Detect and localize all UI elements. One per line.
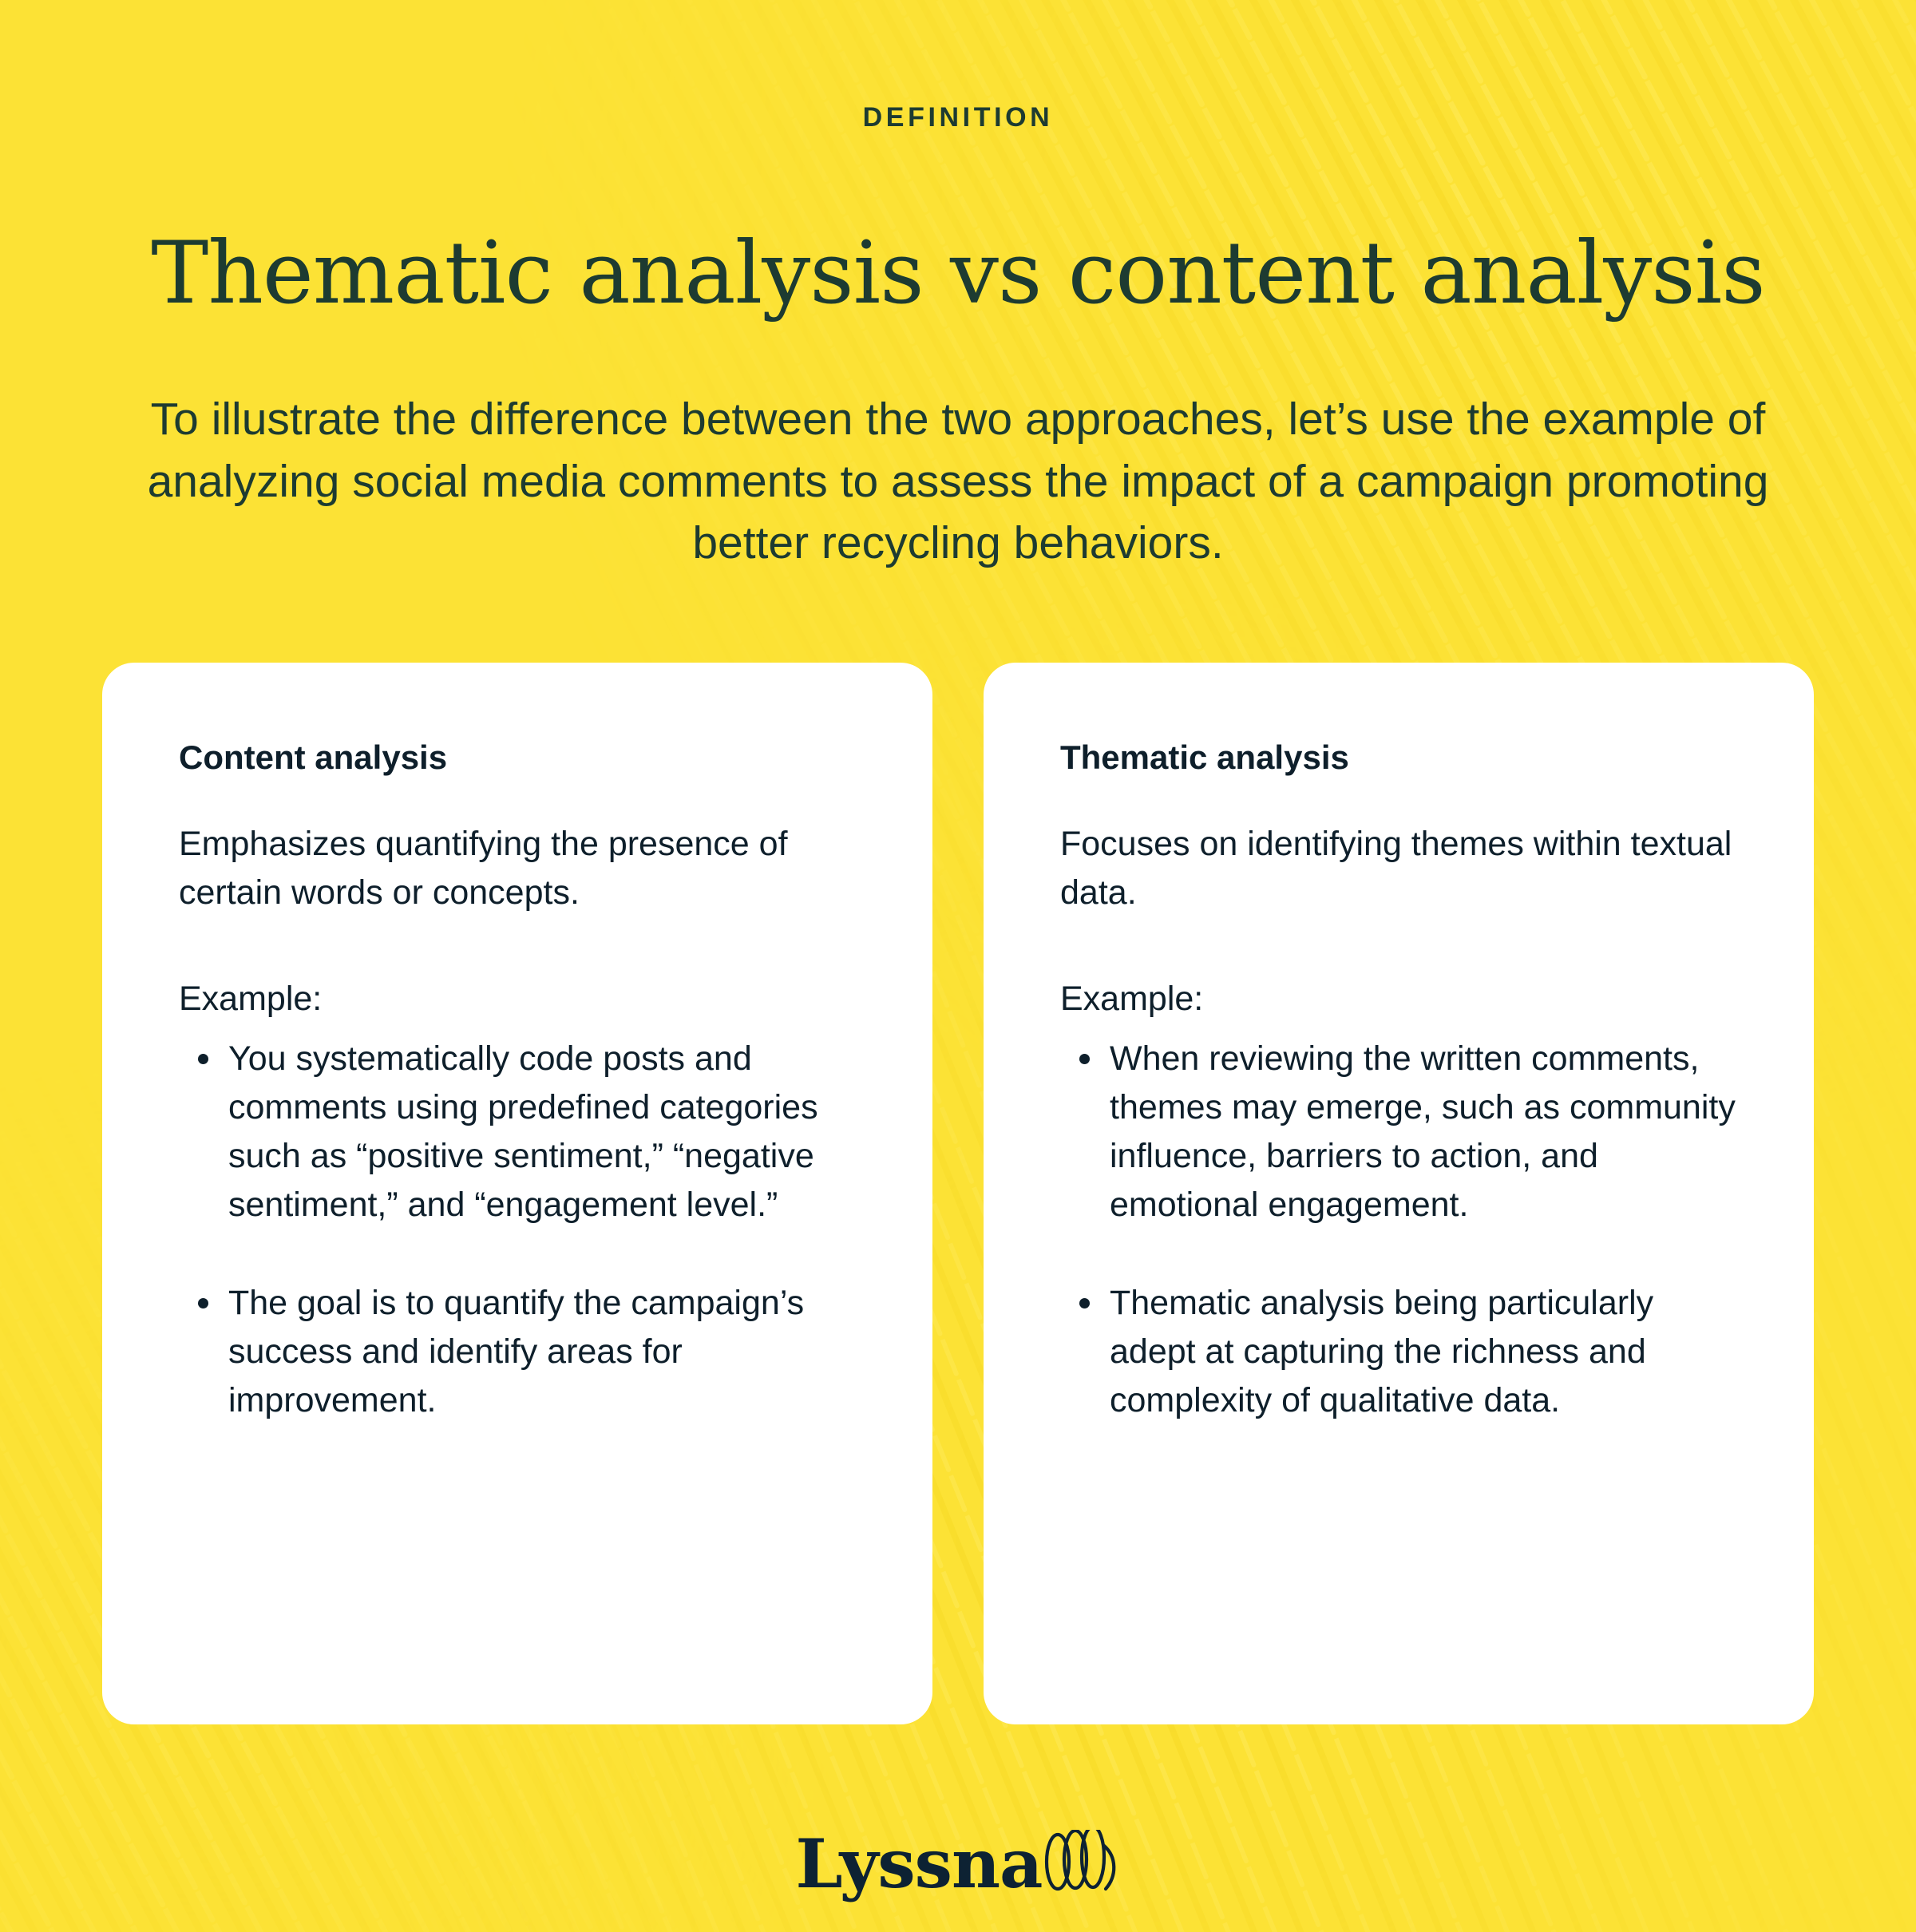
list-item-text: Thematic analysis being particularly ade… [1110, 1284, 1653, 1419]
list-item: Thematic analysis being particularly ade… [1060, 1279, 1737, 1425]
list-item-text: When reviewing the written comments, the… [1110, 1039, 1736, 1224]
lyssna-logo: Lyssna [0, 1830, 1916, 1898]
card-description: Focuses on identifying themes within tex… [1060, 820, 1737, 917]
bullet-dot-icon [1079, 1298, 1090, 1308]
card-bullet-list: You systematically code posts and commen… [179, 1035, 856, 1425]
card-title: Thematic analysis [1060, 736, 1737, 780]
card-description: Emphasizes quantifying the presence of c… [179, 820, 856, 917]
list-item-text: You systematically code posts and commen… [228, 1039, 818, 1224]
card-example-label: Example: [179, 975, 856, 1023]
list-item-text: The goal is to quantify the campaign’s s… [228, 1284, 804, 1419]
card-example-label: Example: [1060, 975, 1737, 1023]
list-item: You systematically code posts and commen… [179, 1035, 856, 1229]
list-item: When reviewing the written comments, the… [1060, 1035, 1737, 1229]
poster-root: DEFINITION Thematic analysis vs content … [0, 0, 1916, 1932]
page-subtitle: To illustrate the difference between the… [88, 389, 1828, 575]
logo-wordmark: Lyssna [796, 1831, 1043, 1898]
bullet-dot-icon [1079, 1054, 1090, 1064]
page-title: Thematic analysis vs content analysis [0, 227, 1916, 322]
card-content-analysis: Content analysis Emphasizes quantifying … [102, 663, 932, 1724]
card-title: Content analysis [179, 736, 856, 780]
bullet-dot-icon [198, 1054, 208, 1064]
eyebrow-label: DEFINITION [0, 102, 1916, 133]
card-bullet-list: When reviewing the written comments, the… [1060, 1035, 1737, 1425]
lyssna-loop-mark-icon [1043, 1830, 1120, 1898]
list-item: The goal is to quantify the campaign’s s… [179, 1279, 856, 1425]
comparison-cards: Content analysis Emphasizes quantifying … [102, 663, 1814, 1724]
card-thematic-analysis: Thematic analysis Focuses on identifying… [984, 663, 1814, 1724]
bullet-dot-icon [198, 1298, 208, 1308]
